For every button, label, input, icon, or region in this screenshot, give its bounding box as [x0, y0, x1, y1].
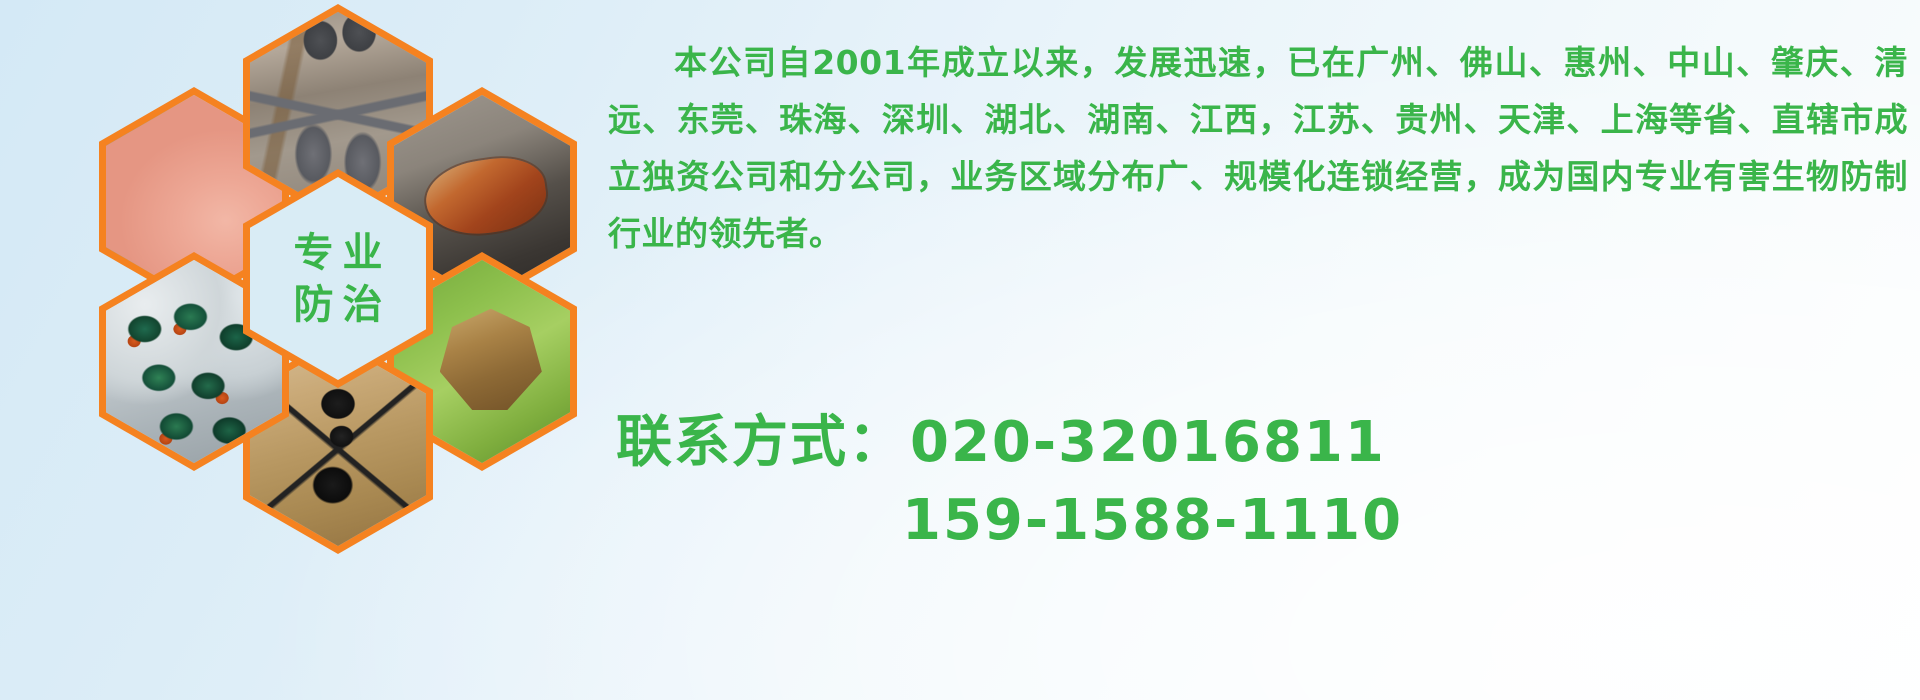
- contact-block: 联系方式：020-32016811 159-1588-1110: [616, 404, 1876, 560]
- contact-label: 联系方式：: [616, 410, 906, 475]
- slogan-text: 专业 防治: [250, 177, 426, 380]
- contact-phone-primary[interactable]: 020-32016811: [910, 410, 1386, 475]
- copy-block: 本公司自2001年成立以来，发展迅速，已在广州、佛山、惠州、中山、肇庆、清远、东…: [608, 34, 1908, 262]
- promo-banner: 专业 防治 本公司自2001年成立以来，发展迅速，已在广州、佛山、惠州、中山、肇…: [0, 0, 1920, 700]
- slogan-line-2: 防治: [285, 285, 392, 325]
- hex-inner: 专业 防治: [250, 177, 426, 380]
- honeycomb-cluster: 专业 防治: [88, 4, 588, 564]
- contact-primary-row: 联系方式：020-32016811: [616, 404, 1876, 482]
- contact-phone-secondary[interactable]: 159-1588-1110: [902, 488, 1403, 553]
- contact-secondary-row: 159-1588-1110: [616, 482, 1876, 560]
- slogan-line-1: 专业: [285, 233, 392, 273]
- company-intro-paragraph: 本公司自2001年成立以来，发展迅速，已在广州、佛山、惠州、中山、肇庆、清远、东…: [608, 34, 1908, 262]
